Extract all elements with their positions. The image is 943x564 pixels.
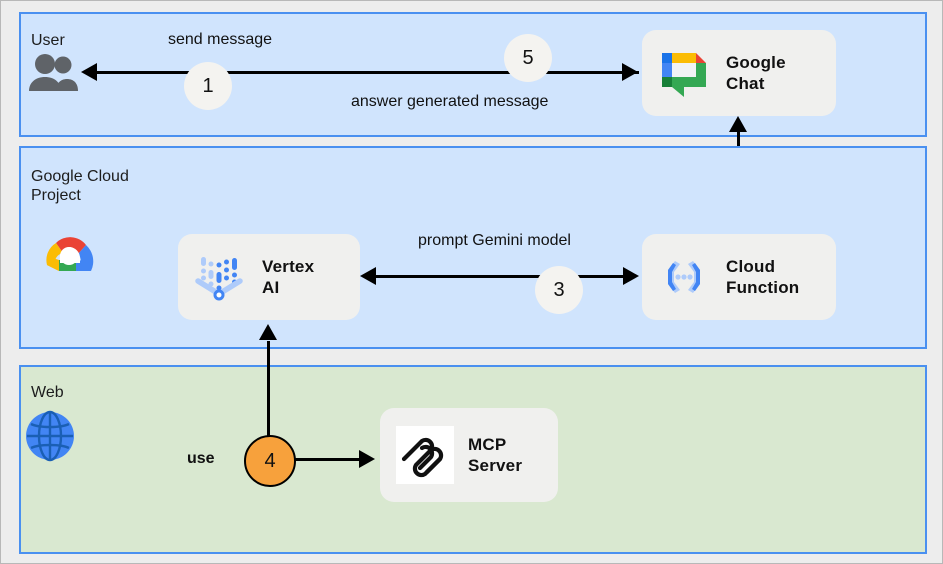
edge-4-line-horizontal <box>293 458 361 461</box>
edge-1-line <box>97 71 639 74</box>
architecture-diagram: User send message 1 answer generated mes… <box>0 0 943 564</box>
node-vertex-ai[interactable]: Vertex AI <box>178 234 360 320</box>
vertex-ai-icon <box>192 249 248 305</box>
edge-1-arrowhead <box>81 63 97 81</box>
node-vertex-ai-label: Vertex AI <box>262 256 314 298</box>
panel-user-title: User <box>31 31 65 50</box>
edge-3-label: prompt Gemini model <box>418 232 571 250</box>
node-mcp-server[interactable]: MCP Server <box>380 408 558 502</box>
cloud-function-icon <box>656 249 712 305</box>
google-chat-icon <box>656 45 712 101</box>
edge-3-arrowhead-left <box>360 267 376 285</box>
edge-5-badge: 5 <box>504 34 552 82</box>
edge-1-badge: 1 <box>184 62 232 110</box>
edge-2-arrowhead-up <box>729 116 747 132</box>
edge-1-label: send message <box>168 31 272 49</box>
panel-web-title: Web <box>31 383 64 402</box>
edge-4-label: use <box>187 450 215 468</box>
globe-icon <box>23 407 81 465</box>
edge-4-arrowhead-right <box>359 450 375 468</box>
edge-3-line <box>376 275 626 278</box>
node-cloud-function[interactable]: Cloud Function <box>642 234 836 320</box>
users-icon <box>23 53 79 93</box>
node-mcp-server-label: MCP Server <box>468 434 522 476</box>
edge-3-arrowhead-right <box>623 267 639 285</box>
mcp-server-icon <box>396 426 454 484</box>
google-cloud-icon <box>34 223 104 285</box>
edge-4-badge: 4 <box>244 435 296 487</box>
edge-4-arrowhead-up <box>259 324 277 340</box>
node-cloud-function-label: Cloud Function <box>726 256 799 298</box>
edge-3-badge: 3 <box>535 266 583 314</box>
node-google-chat[interactable]: Google Chat <box>642 30 836 116</box>
edge-5-label: answer generated message <box>351 93 548 111</box>
node-google-chat-label: Google Chat <box>726 52 786 94</box>
panel-google-cloud-project-title: Google Cloud Project <box>31 167 129 205</box>
edge-5-arrowhead <box>622 63 638 81</box>
